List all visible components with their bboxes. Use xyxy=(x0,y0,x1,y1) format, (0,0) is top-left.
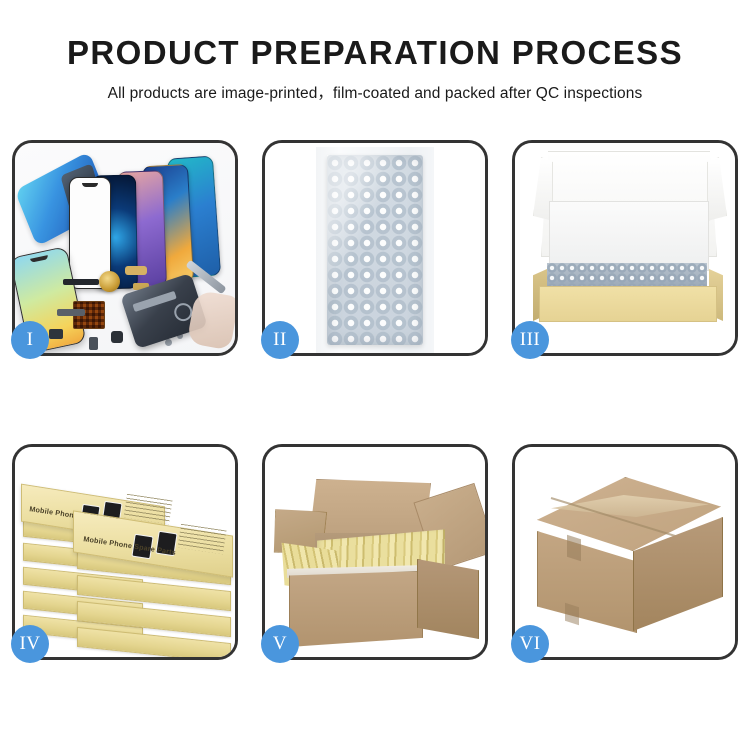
step-badge-3: III xyxy=(511,321,549,359)
screw-icon-1 xyxy=(165,339,172,346)
step-3-image xyxy=(515,143,735,353)
carton-seam-bottom xyxy=(565,603,579,626)
process-step-panel-3: III xyxy=(512,140,738,356)
step-badge-2: II xyxy=(261,321,299,359)
page-title: PRODUCT PREPARATION PROCESS xyxy=(0,0,750,71)
step-badge-5: V xyxy=(261,625,299,663)
step-badge-4: IV xyxy=(11,625,49,663)
step-2-image xyxy=(265,143,485,353)
small-part-icon-2 xyxy=(89,337,98,350)
inner-box-front-panel xyxy=(539,286,717,322)
bubble-wrap-icon xyxy=(327,155,423,345)
step-4-image: Mobile Phone Spare Parts Mobile Phone Sp… xyxy=(15,447,235,657)
foam-insert xyxy=(549,201,709,271)
header: PRODUCT PREPARATION PROCESS All products… xyxy=(0,0,750,103)
step-5-image xyxy=(265,447,485,657)
page-subtitle: All products are image-printed，film-coat… xyxy=(0,71,750,103)
process-step-panel-5: V xyxy=(262,444,488,660)
gold-connector-part-icon xyxy=(125,266,147,275)
step-badge-1: I xyxy=(11,321,49,359)
carton-front-panel xyxy=(289,571,423,647)
step-badge-6: VI xyxy=(511,625,549,663)
flex-cable-part-icon xyxy=(63,279,99,285)
step-1-image xyxy=(15,143,235,353)
process-step-panel-6: VI xyxy=(512,444,738,660)
ribbon-cable-part-icon xyxy=(57,309,85,316)
carton-seam-top xyxy=(567,535,581,562)
step-6-image xyxy=(515,447,735,657)
small-part-icon-3 xyxy=(49,329,63,339)
inner-box-right-flap xyxy=(707,157,727,221)
process-steps-grid: I II III xyxy=(12,140,738,660)
phone-screen-fan xyxy=(67,153,235,283)
process-step-panel-1: I xyxy=(12,140,238,356)
retail-box-stack: Mobile Phone Spare Parts Mobile Phone Sp… xyxy=(21,461,233,651)
product-preparation-process-page: PRODUCT PREPARATION PROCESS All products… xyxy=(0,0,750,750)
small-part-icon-1 xyxy=(111,331,123,343)
carton-side-panel xyxy=(417,559,479,639)
process-step-panel-4: Mobile Phone Spare Parts Mobile Phone Sp… xyxy=(12,444,238,660)
process-step-panel-2: II xyxy=(262,140,488,356)
coil-part-icon xyxy=(99,271,120,292)
